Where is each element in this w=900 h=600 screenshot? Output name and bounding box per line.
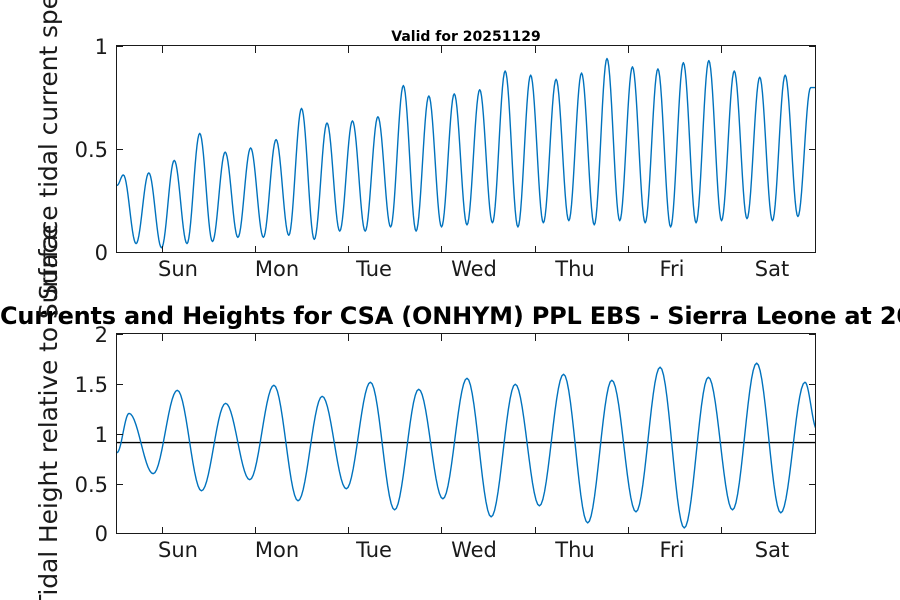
tick-x-speed-5-t [628, 46, 629, 53]
current-speed-axes [116, 45, 816, 253]
xticklabel-speed-sun: Sun [158, 257, 198, 281]
yticklabel-height-05: 0.5 [44, 473, 108, 497]
tick-y-height-15 [116, 384, 123, 385]
tick-y-height-15-r [809, 384, 816, 385]
tick-y-speed-0-r [809, 252, 816, 253]
tick-y-height-0 [116, 533, 123, 534]
tick-x-height-5-t [628, 334, 629, 341]
tick-x-speed-6 [721, 246, 722, 253]
xticklabel-height-mon: Mon [255, 538, 299, 562]
tick-x-height-6-t [721, 334, 722, 341]
tick-x-speed-0-t [162, 46, 163, 53]
tick-y-speed-1-r [809, 46, 816, 47]
tick-y-height-05 [116, 484, 123, 485]
tick-x-height-0 [162, 527, 163, 534]
tick-x-height-4-t [535, 334, 536, 341]
tick-y-speed-0 [116, 252, 123, 253]
tick-y-height-0-r [809, 533, 816, 534]
yticklabel-speed-0: 0 [64, 241, 108, 265]
xticklabel-height-sat: Sat [755, 538, 789, 562]
subtitle-valid-for: Valid for 20251129 [116, 29, 816, 45]
xticklabel-speed-mon: Mon [255, 257, 299, 281]
xticklabel-speed-wed: Wed [451, 257, 497, 281]
yticklabel-height-2: 2 [64, 323, 108, 347]
tick-y-height-1 [116, 434, 123, 435]
tidal-height-ylabel: Tidal Height relative to Surface [34, 225, 63, 600]
tick-x-height-4 [535, 527, 536, 534]
xticklabel-speed-tue: Tue [356, 257, 392, 281]
tick-x-height-3 [441, 527, 442, 534]
yticklabel-height-15: 1.5 [44, 373, 108, 397]
tidal-height-plot [117, 334, 816, 534]
tick-x-height-2-t [348, 334, 349, 341]
xticklabel-height-sun: Sun [158, 538, 198, 562]
current-speed-line [117, 58, 816, 247]
tick-y-height-1-r [809, 434, 816, 435]
tick-x-height-1-t [255, 334, 256, 341]
yticklabel-speed-05: 0.5 [44, 138, 108, 162]
yticklabel-speed-1: 1 [64, 35, 108, 59]
tick-x-speed-1-t [255, 46, 256, 53]
tick-x-height-6 [721, 527, 722, 534]
main-title: Currents and Heights for CSA (ONHYM) PPL… [0, 302, 900, 330]
tick-x-height-2 [348, 527, 349, 534]
tick-y-height-2 [116, 334, 123, 335]
tick-x-speed-0 [162, 246, 163, 253]
tick-x-height-1 [255, 527, 256, 534]
tick-x-speed-2 [348, 246, 349, 253]
xticklabel-height-tue: Tue [356, 538, 392, 562]
xticklabel-speed-thu: Thu [555, 257, 594, 281]
tick-x-speed-4-t [535, 46, 536, 53]
tidal-height-line [117, 363, 816, 528]
tick-x-speed-3-t [441, 46, 442, 53]
tick-y-speed-05-r [809, 149, 816, 150]
tick-x-speed-2-t [348, 46, 349, 53]
tidal-height-axes [116, 333, 816, 534]
tick-x-speed-4 [535, 246, 536, 253]
tick-y-speed-05 [116, 149, 123, 150]
tidal-figure: Surface tidal current speed, kn Valid fo… [0, 0, 900, 600]
current-speed-plot [117, 46, 816, 253]
tick-x-speed-1 [255, 246, 256, 253]
xticklabel-speed-sat: Sat [755, 257, 789, 281]
yticklabel-height-0: 0 [64, 522, 108, 546]
xticklabel-height-thu: Thu [555, 538, 594, 562]
tick-x-height-5 [628, 527, 629, 534]
xticklabel-height-fri: Fri [659, 538, 684, 562]
tick-y-height-2-r [809, 334, 816, 335]
tick-x-height-0-t [162, 334, 163, 341]
tick-x-speed-6-t [721, 46, 722, 53]
yticklabel-height-1: 1 [64, 423, 108, 447]
tick-y-speed-1 [116, 46, 123, 47]
tick-x-height-3-t [441, 334, 442, 341]
xticklabel-speed-fri: Fri [659, 257, 684, 281]
tick-x-speed-5 [628, 246, 629, 253]
tick-x-speed-3 [441, 246, 442, 253]
tick-y-height-05-r [809, 484, 816, 485]
xticklabel-height-wed: Wed [451, 538, 497, 562]
